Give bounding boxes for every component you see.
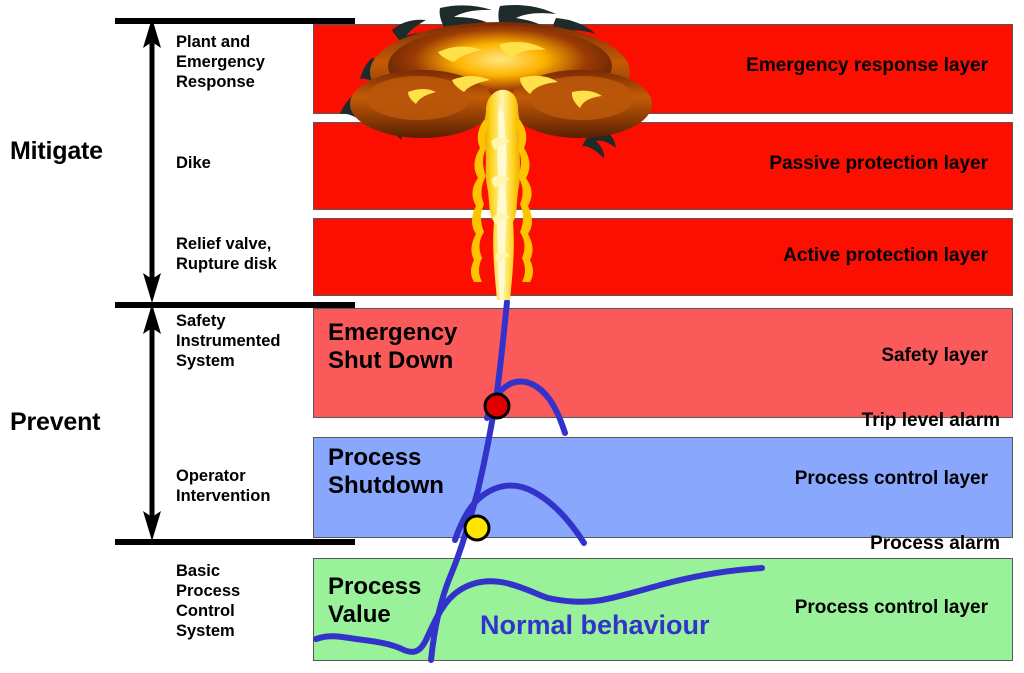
mechanism-label-plant-and-emergency-response: Plant and Emergency Response: [176, 32, 265, 92]
mechanism-label-operator-intervention: Operator Intervention: [176, 466, 270, 506]
layer-band-passive-protection-layer: Passive protection layer: [313, 122, 1013, 210]
layer-right-label-process-control-layer-mid: Process control layer: [795, 468, 988, 490]
layer-left-label-process-shutdown: Process Shutdown: [328, 444, 444, 500]
bracket-rule-bottom: [115, 539, 355, 545]
layer-right-label-safety-layer: Safety layer: [881, 345, 988, 367]
mechanism-label-relief-valve-rupture-disk: Relief valve, Rupture disk: [176, 234, 277, 274]
alarm-label-trip-level-alarm: Trip level alarm: [862, 410, 1000, 432]
alarm-label-process-alarm: Process alarm: [870, 533, 1000, 555]
annotation-normal-behaviour: Normal behaviour: [480, 610, 710, 641]
layer-right-label-passive-protection-layer: Passive protection layer: [769, 153, 988, 175]
mechanism-label-safety-instrumented-system: Safety Instrumented System: [176, 311, 281, 371]
layer-band-safety-layer: Emergency Shut Down Safety layer: [313, 308, 1013, 418]
diagram-canvas: Mitigate Prevent Plant and Emergency Res…: [0, 0, 1024, 673]
category-label-mitigate: Mitigate: [10, 137, 103, 166]
category-label-prevent: Prevent: [10, 408, 100, 437]
mechanism-label-basic-process-control-system: Basic Process Control System: [176, 561, 240, 641]
mechanism-label-dike: Dike: [176, 153, 211, 173]
layer-band-active-protection-layer: Active protection layer: [313, 218, 1013, 296]
prevent-double-arrow: [143, 304, 161, 541]
layer-left-label-emergency-shut-down: Emergency Shut Down: [328, 319, 457, 375]
mitigate-double-arrow: [143, 18, 161, 303]
layer-right-label-emergency-response-layer: Emergency response layer: [746, 55, 988, 77]
layer-right-label-process-control-layer-low: Process control layer: [795, 597, 988, 619]
layer-right-label-active-protection-layer: Active protection layer: [783, 245, 988, 267]
layer-band-process-control-layer-mid: Process Shutdown Process control layer: [313, 437, 1013, 538]
layer-left-label-process-value: Process Value: [328, 573, 421, 629]
layer-band-emergency-response-layer: Emergency response layer: [313, 24, 1013, 114]
